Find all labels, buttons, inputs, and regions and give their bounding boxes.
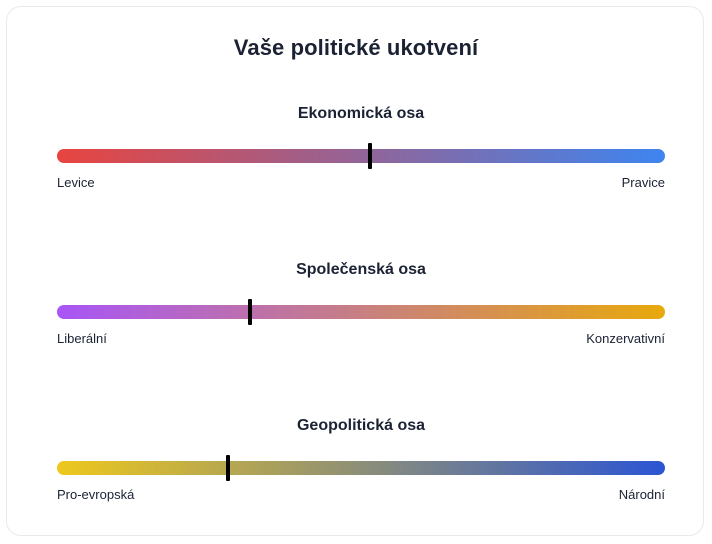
axis-label-right: Pravice [622,174,665,192]
axis-social: Společenská osa Liberální Konzervativní [51,260,671,348]
axis-label-right: Konzervativní [586,330,665,348]
axis-label-left: Levice [57,174,95,192]
axis-position-marker[interactable] [368,143,372,169]
axis-title: Geopolitická osa [51,416,671,436]
axis-label-left: Pro-evropská [57,486,134,504]
axis-position-marker[interactable] [226,455,230,481]
axis-title: Společenská osa [51,260,671,280]
page-title: Vaše politické ukotvení [7,35,705,61]
axis-endpoint-labels: Levice Pravice [51,174,671,192]
axis-endpoint-labels: Pro-evropská Národní [51,486,671,504]
axis-economic: Ekonomická osa Levice Pravice [51,104,671,192]
axis-title: Ekonomická osa [51,104,671,124]
axis-endpoint-labels: Liberální Konzervativní [51,330,671,348]
axis-position-marker[interactable] [248,299,252,325]
axis-geopolitical: Geopolitická osa Pro-evropská Národní [51,416,671,504]
axis-slider[interactable] [57,143,665,169]
axis-label-right: Národní [619,486,665,504]
axis-slider[interactable] [57,455,665,481]
axis-slider[interactable] [57,299,665,325]
axis-label-left: Liberální [57,330,107,348]
axis-gradient-bar [57,461,665,475]
axis-gradient-bar [57,149,665,163]
axis-gradient-bar [57,305,665,319]
political-compass-card: Vaše politické ukotvení Ekonomická osa L… [6,6,704,536]
